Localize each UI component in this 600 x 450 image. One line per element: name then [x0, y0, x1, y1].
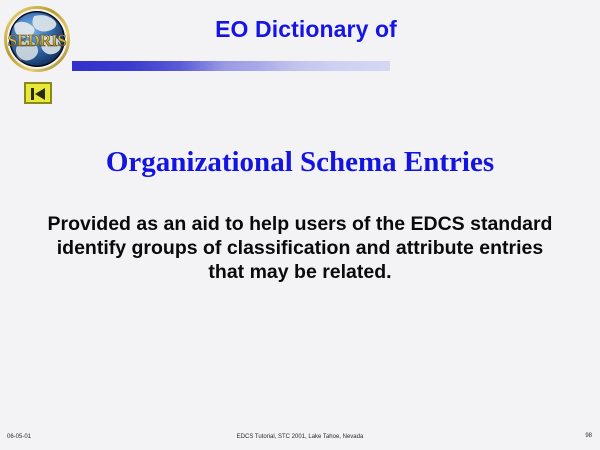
body-line-1: Provided as an aid to help users of the … [38, 212, 562, 236]
footer-event-label: EDCS Tutorial, STC 2001, Lake Tahoe, Nev… [0, 434, 600, 440]
body-line-2: identify groups of classification and at… [38, 236, 562, 260]
body-line-3: that may be related. [38, 260, 562, 284]
svg-text:SEDRIS: SEDRIS [8, 31, 66, 50]
slide-footer: 06-05-01 EDCS Tutorial, STC 2001, Lake T… [0, 428, 600, 450]
header-gradient-bar [72, 61, 390, 71]
slide-canvas: SEDRIS EO Dictionary of Organizational S… [0, 0, 600, 450]
header-title: EO Dictionary of [90, 16, 522, 43]
previous-slide-button[interactable] [24, 82, 52, 104]
footer-page-number: 98 [585, 433, 592, 439]
previous-arrow-icon [26, 87, 50, 101]
slide-title: Organizational Schema Entries [0, 146, 600, 179]
sedris-logo-icon: SEDRIS [4, 6, 70, 72]
slide-body-text: Provided as an aid to help users of the … [38, 212, 562, 284]
